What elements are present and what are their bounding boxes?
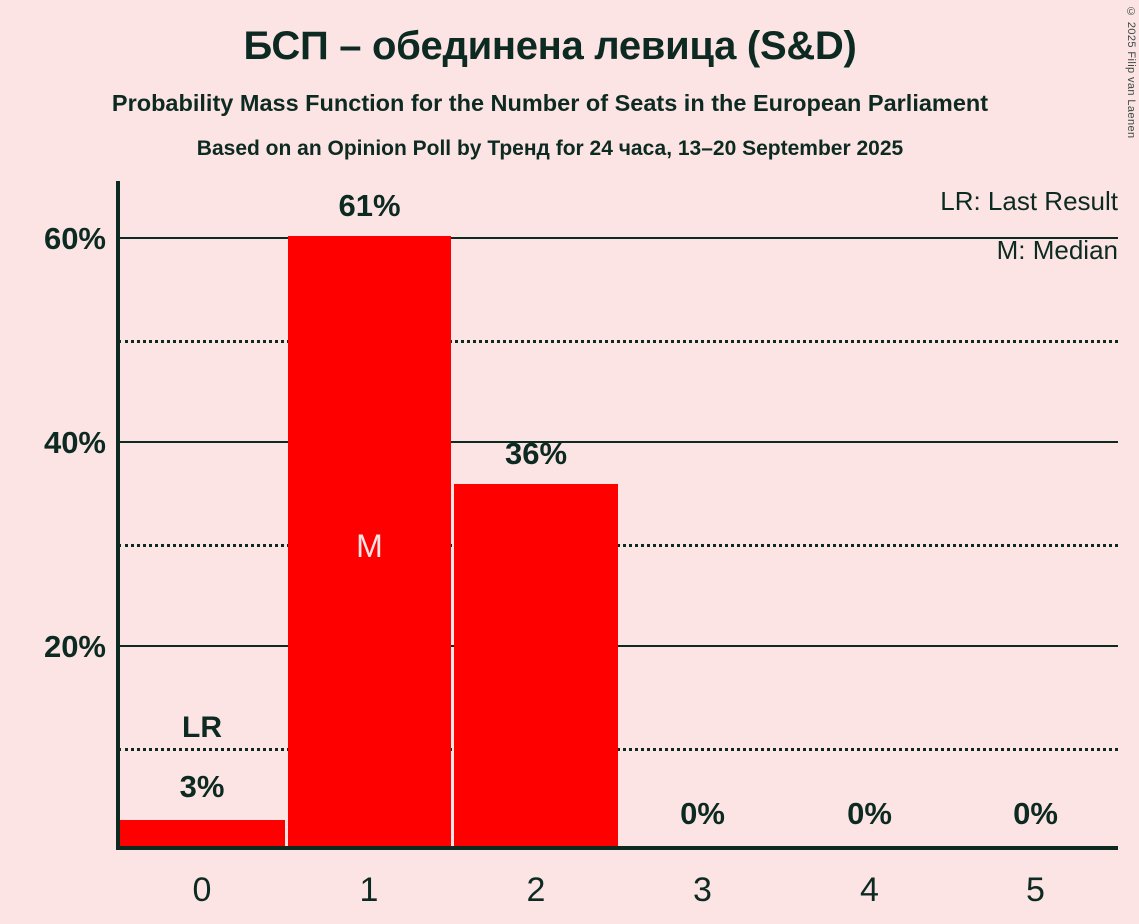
bar-value-0: 3% [119,771,285,802]
x-axis-label-4: 4 [787,873,952,907]
x-axis-label-5: 5 [953,873,1118,907]
gridline-40 [118,441,1118,443]
y-axis-label-40: 40% [0,427,106,458]
y-axis-line [116,181,120,850]
legend-median: M: Median [997,237,1118,263]
x-axis-label-1: 1 [286,873,452,907]
bar-value-4: 0% [787,798,952,829]
gridline-50 [118,340,1118,343]
bar-value-5: 0% [953,798,1118,829]
y-axis-label-60: 60% [0,223,106,254]
median-marker: M [288,530,451,562]
gridline-10 [118,748,1118,751]
x-axis-line [116,846,1118,850]
bar-value-1: 61% [288,190,451,221]
bar-2 [454,484,618,847]
x-axis-label-2: 2 [453,873,619,907]
x-axis-label-0: 0 [119,873,285,907]
bar-0 [119,820,285,847]
chart-plot-area: LR: Last Result M: Median 60% 40% 20% 3%… [0,0,1139,924]
x-axis-label-3: 3 [620,873,785,907]
last-result-marker: LR [119,713,285,743]
legend-last-result: LR: Last Result [940,188,1118,214]
gridline-30 [118,544,1118,547]
gridline-20 [118,645,1118,647]
gridline-60 [118,237,1118,239]
bar-value-3: 0% [620,798,785,829]
bar-value-2: 36% [454,438,618,469]
y-axis-label-20: 20% [0,631,106,662]
